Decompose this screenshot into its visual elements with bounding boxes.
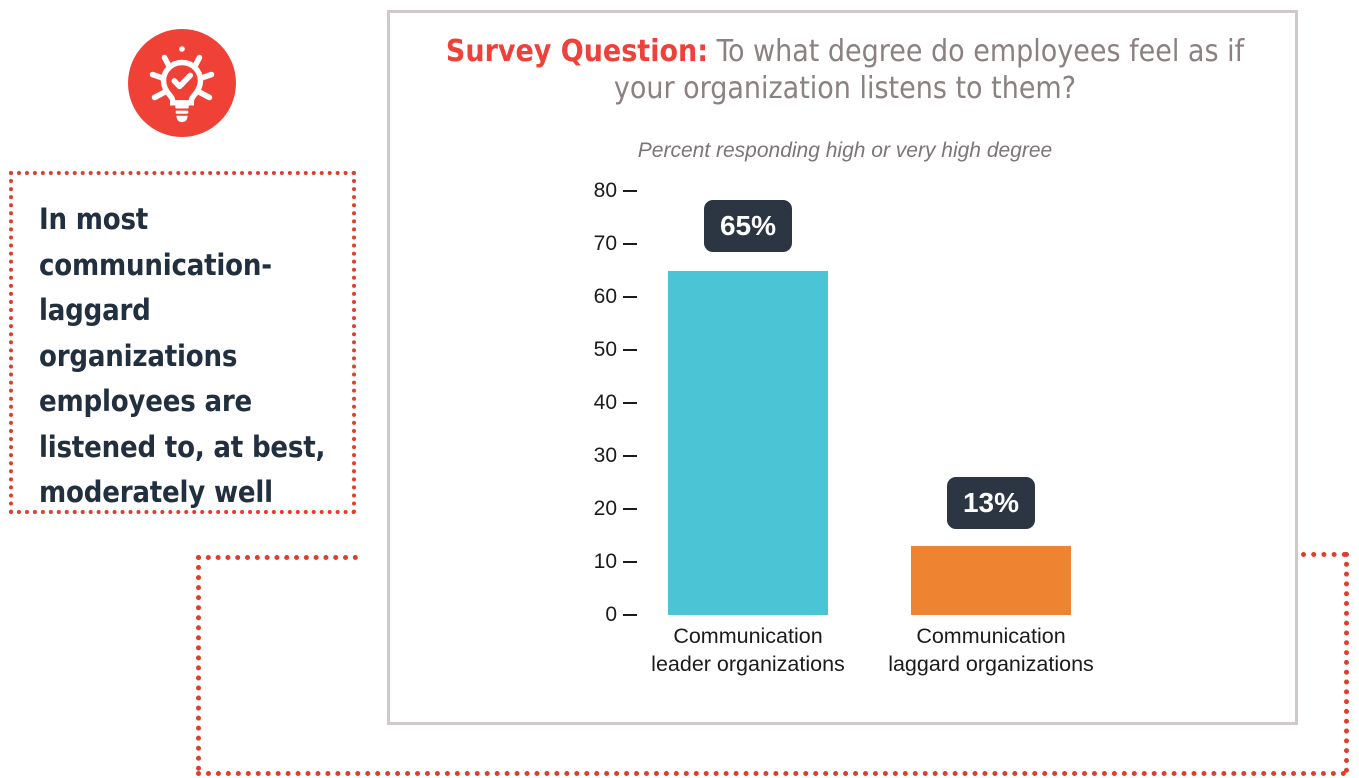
insight-callout-text: In most communication-laggard organizati… [39, 197, 327, 516]
connector-segment-left [196, 555, 201, 771]
connector-segment-right [1344, 552, 1349, 773]
insight-callout-box: In most communication-laggard organizati… [9, 171, 356, 514]
y-tick-label-70: 70 [573, 232, 617, 256]
data-label-communication-laggard-organizations: 13% [947, 477, 1035, 529]
y-tick-mark-50 [623, 349, 637, 351]
bar-communication-leader-organizations [668, 271, 828, 616]
x-axis-label-line-2: laggard organizations [876, 650, 1106, 678]
y-tick-label-80: 80 [573, 179, 617, 203]
chart-panel: Survey Question: To what degree do emplo… [387, 10, 1298, 725]
y-tick-mark-10 [623, 561, 637, 563]
y-tick-mark-70 [623, 243, 637, 245]
connector-segment-bottom [196, 771, 1347, 776]
data-label-communication-leader-organizations: 65% [704, 200, 792, 252]
connector-segment-top [196, 555, 358, 560]
x-axis-label-line-1: Communication [633, 622, 863, 650]
x-axis-label-communication-leader-organizations: Communication leader organizations [633, 622, 863, 678]
y-tick-label-40: 40 [573, 391, 617, 415]
y-tick-label-10: 10 [573, 550, 617, 574]
y-tick-label-50: 50 [573, 338, 617, 362]
y-tick-mark-30 [623, 455, 637, 457]
lightbulb-check-icon [128, 29, 236, 137]
y-tick-mark-60 [623, 296, 637, 298]
x-axis-label-line-2: leader organizations [633, 650, 863, 678]
y-tick-mark-40 [623, 402, 637, 404]
slide-canvas: In most communication-laggard organizati… [0, 0, 1359, 778]
x-axis-label-communication-laggard-organizations: Communication laggard organizations [876, 622, 1106, 678]
y-tick-mark-20 [623, 508, 637, 510]
x-axis-label-line-1: Communication [876, 622, 1106, 650]
y-tick-mark-80 [623, 190, 637, 192]
y-tick-label-0: 0 [573, 603, 617, 627]
y-tick-label-60: 60 [573, 285, 617, 309]
bar-chart-plot: 80 70 60 50 40 30 20 10 0 65% 13% [390, 13, 1301, 728]
y-tick-label-30: 30 [573, 444, 617, 468]
bar-communication-laggard-organizations [911, 546, 1071, 615]
y-tick-mark-0 [623, 614, 637, 616]
y-tick-label-20: 20 [573, 497, 617, 521]
